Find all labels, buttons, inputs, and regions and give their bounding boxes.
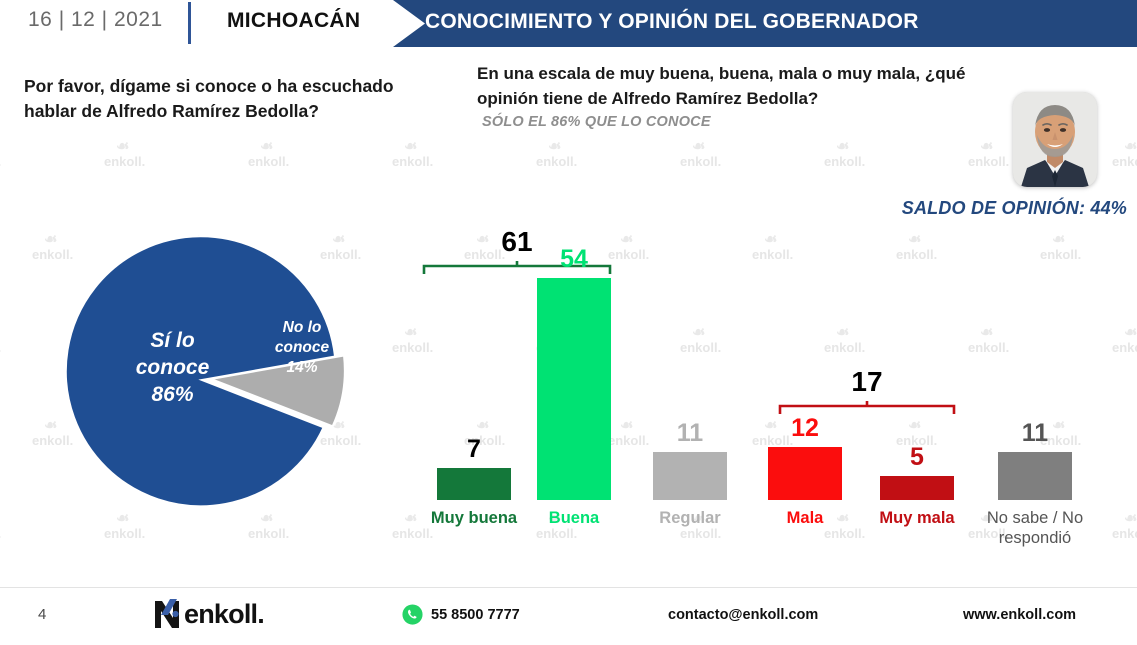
- bar-label-buena: Buena: [549, 509, 599, 529]
- bar-column-mala: 12 Mala: [755, 416, 855, 500]
- header-state-name: MICHOACÁN: [227, 9, 360, 33]
- pie-label-si-line1: Sí lo: [100, 328, 245, 355]
- pie-label-si-value: 86%: [100, 382, 245, 409]
- governor-photo: [1013, 92, 1097, 187]
- contact-website[interactable]: www.enkoll.com: [963, 607, 1076, 623]
- bar-value-regular: 11: [640, 421, 740, 446]
- watermark-tile: ☙enkoll.: [392, 140, 433, 169]
- watermark-tile: ☙enkoll.: [0, 512, 1, 541]
- watermark-mark-icon: ☙: [116, 140, 145, 154]
- bar-column-muy-buena: 7 Muy buena: [424, 437, 524, 500]
- bar-column-buena: 54 Buena: [524, 247, 624, 500]
- header-date: 16 | 12 | 2021: [28, 8, 163, 32]
- watermark-tile: ☙enkoll.: [0, 326, 1, 355]
- enkoll-logo-text: enkoll.: [184, 599, 264, 630]
- watermark-mark-icon: ☙: [836, 140, 865, 154]
- watermark-tile: ☙enkoll.: [968, 140, 1009, 169]
- watermark-mark-icon: ☙: [44, 233, 73, 247]
- bar-value-muy-buena: 7: [424, 437, 524, 462]
- pie-label-no-line1: No lo: [252, 318, 352, 338]
- bracket-negative: 17: [778, 368, 956, 415]
- watermark-tile: ☙enkoll.: [536, 140, 577, 169]
- whatsapp-contact: 55 8500 7777: [402, 604, 520, 625]
- pie-label-si-lo-conoce: Sí lo conoce 86%: [100, 328, 245, 409]
- watermark-tile: ☙enkoll.: [32, 419, 73, 448]
- pie-label-no-value: 14%: [252, 358, 352, 378]
- bar-label-mala: Mala: [787, 509, 824, 529]
- bar-value-buena: 54: [524, 247, 624, 272]
- bar-column-muy-mala: 5 Muy mala: [867, 445, 967, 500]
- bar-chart: 61 17 7 Muy buena 54 Buena 11 Regular: [400, 228, 1137, 588]
- bar-rect-buena: [537, 278, 611, 500]
- portrait-illustration: [1013, 92, 1097, 187]
- bar-rect-regular: [653, 452, 727, 500]
- bar-column-regular: 11 Regular: [640, 421, 740, 500]
- footer-bar: 4 enkoll. 55 8500 7777 contacto@enkoll.c…: [0, 587, 1137, 645]
- whatsapp-phone-number[interactable]: 55 8500 7777: [431, 607, 520, 623]
- bar-value-muy-mala: 5: [867, 445, 967, 470]
- watermark-mark-icon: ☙: [692, 140, 721, 154]
- bar-rect-muy-mala: [880, 476, 954, 500]
- bar-label-muy-mala: Muy mala: [879, 509, 954, 529]
- watermark-mark-icon: ☙: [44, 419, 73, 433]
- question-left: Por favor, dígame si conoce o ha escucha…: [24, 74, 444, 125]
- bar-column-no-sabe: 11 No sabe / No respondió: [985, 421, 1085, 500]
- watermark-tile: ☙enkoll.: [824, 140, 865, 169]
- watermark-mark-icon: ☙: [0, 512, 1, 526]
- watermark-mark-icon: ☙: [548, 140, 577, 154]
- watermark-tile: ☙enkoll.: [104, 140, 145, 169]
- contact-email[interactable]: contacto@enkoll.com: [668, 607, 818, 623]
- bar-rect-muy-buena: [437, 468, 511, 500]
- header-divider: [188, 2, 191, 44]
- pie-chart: Sí lo conoce 86% No lo conoce 14%: [70, 228, 380, 533]
- watermark-mark-icon: ☙: [1124, 140, 1137, 154]
- question-right-block: En una escala de muy buena, buena, mala …: [477, 62, 997, 130]
- bar-value-mala: 12: [755, 416, 855, 441]
- question-right-subnote: SÓLO EL 86% QUE LO CONOCE: [482, 114, 997, 130]
- slide-root: ☙enkoll.☙enkoll.☙enkoll.☙enkoll.☙enkoll.…: [0, 0, 1137, 645]
- enkoll-logo: enkoll.: [152, 596, 264, 632]
- page-number: 4: [38, 606, 46, 623]
- watermark-tile: ☙enkoll.: [32, 233, 73, 262]
- watermark-mark-icon: ☙: [0, 326, 1, 340]
- bar-label-regular: Regular: [659, 509, 720, 529]
- bar-label-no-sabe: No sabe / No respondió: [975, 509, 1095, 549]
- bar-rect-no-sabe: [998, 452, 1072, 500]
- bar-label-muy-buena: Muy buena: [431, 509, 517, 529]
- pie-label-si-line2: conoce: [100, 355, 245, 382]
- pie-label-no-lo-conoce: No lo conoce 14%: [252, 318, 352, 377]
- whatsapp-icon: [402, 604, 423, 625]
- watermark-mark-icon: ☙: [980, 140, 1009, 154]
- bar-rect-mala: [768, 447, 842, 500]
- bar-value-no-sabe: 11: [985, 421, 1085, 446]
- pie-label-no-line2: conoce: [252, 338, 352, 358]
- question-right: En una escala de muy buena, buena, mala …: [477, 62, 997, 111]
- saldo-de-opinion: SALDO DE OPINIÓN: 44%: [902, 198, 1127, 219]
- watermark-tile: ☙enkoll.: [248, 140, 289, 169]
- watermark-mark-icon: ☙: [404, 140, 433, 154]
- watermark-mark-icon: ☙: [0, 140, 1, 154]
- watermark-tile: ☙enkoll.: [1112, 140, 1137, 169]
- watermark-mark-icon: ☙: [260, 140, 289, 154]
- header-banner-title: CONOCIMIENTO Y OPINIÓN DEL GOBERNADOR: [425, 10, 919, 34]
- bracket-negative-shape: [778, 401, 956, 415]
- watermark-tile: ☙enkoll.: [0, 140, 1, 169]
- watermark-tile: ☙enkoll.: [680, 140, 721, 169]
- bracket-negative-value: 17: [778, 368, 956, 396]
- header-bar: 16 | 12 | 2021 MICHOACÁN CONOCIMIENTO Y …: [0, 0, 1137, 47]
